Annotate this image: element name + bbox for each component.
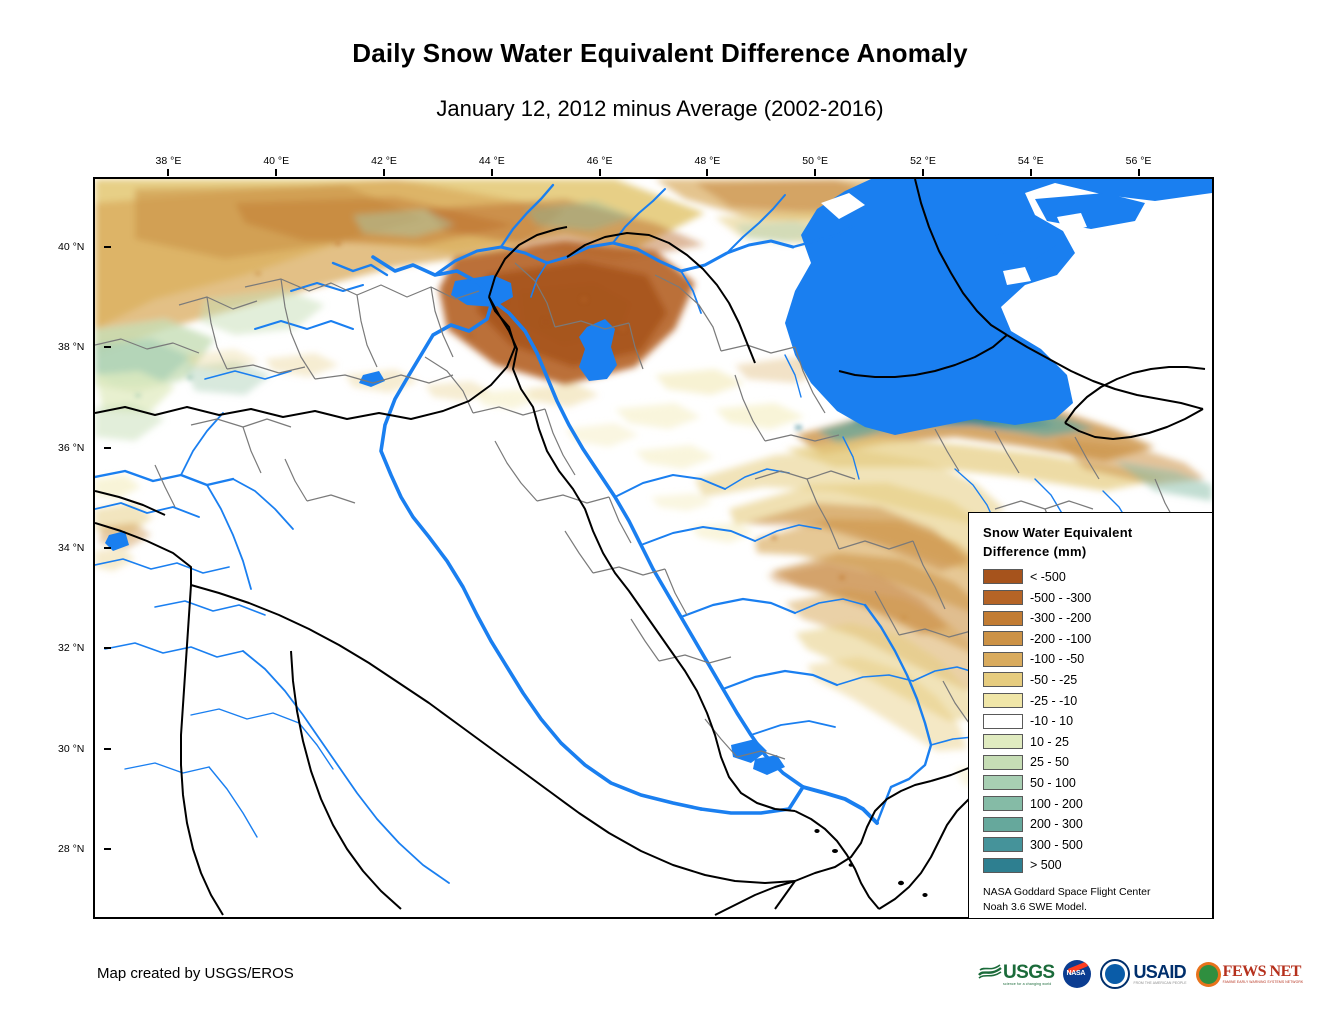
usaid-seal-icon (1100, 959, 1130, 989)
legend-swatch (983, 652, 1023, 667)
latitude-tick (104, 346, 111, 348)
legend-label: 50 - 100 (1030, 776, 1076, 790)
legend-entry: -25 - -10 (983, 690, 1212, 711)
longitude-tick (599, 169, 601, 176)
legend-entry: -500 - -300 (983, 587, 1212, 608)
longitude-tick (275, 169, 277, 176)
legend-title-line1: Snow Water Equivalent (983, 524, 1212, 543)
latitude-tick (104, 848, 111, 850)
longitude-label: 40 °E (263, 155, 289, 167)
fewsnet-wordmark: FEWS NET (1223, 964, 1304, 980)
fewsnet-logo: FEWS NET FAMINE EARLY WARNING SYSTEMS NE… (1196, 958, 1304, 990)
legend-entry: -300 - -200 (983, 608, 1212, 629)
longitude-label: 38 °E (156, 155, 182, 167)
longitude-label: 48 °E (694, 155, 720, 167)
legend-footer-line1: NASA Goddard Space Flight Center (983, 885, 1212, 900)
legend-entry: -100 - -50 (983, 649, 1212, 670)
longitude-label: 42 °E (371, 155, 397, 167)
map-credit: Map created by USGS/EROS (97, 965, 294, 982)
legend-swatch (983, 858, 1023, 873)
nasa-wordmark: NASA (1066, 970, 1085, 977)
nasa-meatball-icon: NASA (1063, 960, 1091, 988)
longitude-tick (167, 169, 169, 176)
legend-label: 200 - 300 (1030, 817, 1083, 831)
usaid-logo: USAID FROM THE AMERICAN PEOPLE (1100, 958, 1186, 990)
latitude-tick (104, 547, 111, 549)
legend-swatch (983, 775, 1023, 790)
fewsnet-globe-inner-icon (1199, 965, 1218, 984)
lake-van (451, 275, 513, 307)
legend-label: 100 - 200 (1030, 797, 1083, 811)
legend-swatch (983, 837, 1023, 852)
legend-entry: 50 - 100 (983, 773, 1212, 794)
legend-label: -300 - -200 (1030, 611, 1091, 625)
longitude-label: 50 °E (802, 155, 828, 167)
legend-label: 25 - 50 (1030, 755, 1069, 769)
longitude-tick (383, 169, 385, 176)
legend-swatch (983, 631, 1023, 646)
legend-entry: > 500 (983, 855, 1212, 876)
legend-swatch (983, 817, 1023, 832)
latitude-label: 40 °N (58, 241, 84, 253)
legend-swatch (983, 734, 1023, 749)
legend-swatch (983, 590, 1023, 605)
lake-urmia (579, 319, 617, 381)
legend-swatch (983, 796, 1023, 811)
latitude-label: 34 °N (58, 542, 84, 554)
legend-title-line2: Difference (mm) (983, 543, 1212, 562)
latitude-tick (104, 246, 111, 248)
latitude-label: 36 °N (58, 442, 84, 454)
nasa-logo: NASA (1063, 958, 1091, 990)
legend-entry: -10 - 10 (983, 711, 1212, 732)
longitude-label: 46 °E (587, 155, 613, 167)
legend-entry-list: < -500-500 - -300-300 - -200-200 - -100-… (983, 567, 1212, 876)
legend-entry: 200 - 300 (983, 814, 1212, 835)
legend-label: -50 - -25 (1030, 673, 1077, 687)
usaid-seal-inner-icon (1105, 964, 1125, 984)
legend-entry: < -500 (983, 567, 1212, 588)
legend-swatch (983, 755, 1023, 770)
legend-entry: 10 - 25 (983, 731, 1212, 752)
legend-label: 10 - 25 (1030, 735, 1069, 749)
latitude-label: 28 °N (58, 843, 84, 855)
longitude-tick (814, 169, 816, 176)
legend-label: -500 - -300 (1030, 591, 1091, 605)
latitude-label: 30 °N (58, 743, 84, 755)
page-title: Daily Snow Water Equivalent Difference A… (0, 38, 1320, 69)
legend-swatch (983, 714, 1023, 729)
legend-entry: 25 - 50 (983, 752, 1212, 773)
legend-entry: -200 - -100 (983, 628, 1212, 649)
longitude-tick (922, 169, 924, 176)
legend-label: -25 - -10 (1030, 694, 1077, 708)
longitude-label: 54 °E (1018, 155, 1044, 167)
legend-entry: -50 - -25 (983, 670, 1212, 691)
legend-label: -100 - -50 (1030, 652, 1084, 666)
usaid-wordmark: USAID (1133, 963, 1186, 981)
legend-entry: 300 - 500 (983, 834, 1212, 855)
legend-swatch (983, 693, 1023, 708)
legend-swatch (983, 672, 1023, 687)
usaid-tagline: FROM THE AMERICAN PEOPLE (1133, 981, 1186, 985)
legend-label: 300 - 500 (1030, 838, 1083, 852)
legend-label: -10 - 10 (1030, 714, 1073, 728)
legend-footer: NASA Goddard Space Flight Center Noah 3.… (983, 885, 1212, 915)
latitude-tick (104, 748, 111, 750)
legend-swatch (983, 569, 1023, 584)
agency-logo-strip: USGS science for a changing world NASA U… (978, 957, 1303, 991)
usgs-logo: USGS science for a changing world (978, 958, 1054, 990)
usgs-tagline: science for a changing world (1003, 982, 1054, 986)
legend-swatch (983, 611, 1023, 626)
legend-title: Snow Water Equivalent Difference (mm) (983, 524, 1212, 562)
legend-label: > 500 (1030, 858, 1062, 872)
longitude-tick (1138, 169, 1140, 176)
longitude-label: 52 °E (910, 155, 936, 167)
legend-label: -200 - -100 (1030, 632, 1091, 646)
legend-label: < -500 (1030, 570, 1066, 584)
longitude-label: 56 °E (1126, 155, 1152, 167)
latitude-tick (104, 447, 111, 449)
usgs-wave-icon (978, 964, 1002, 985)
usgs-wordmark: USGS (1003, 963, 1054, 982)
legend-footer-line2: Noah 3.6 SWE Model. (983, 900, 1212, 915)
map-legend: Snow Water Equivalent Difference (mm) < … (968, 512, 1213, 919)
latitude-label: 38 °N (58, 341, 84, 353)
longitude-tick (1030, 169, 1032, 176)
longitude-label: 44 °E (479, 155, 505, 167)
longitude-tick (706, 169, 708, 176)
page-subtitle: January 12, 2012 minus Average (2002-201… (0, 96, 1320, 122)
latitude-tick (104, 647, 111, 649)
fewsnet-tagline: FAMINE EARLY WARNING SYSTEMS NETWORK (1223, 980, 1304, 984)
longitude-tick (491, 169, 493, 176)
latitude-label: 32 °N (58, 642, 84, 654)
legend-entry: 100 - 200 (983, 793, 1212, 814)
fewsnet-globe-icon (1196, 962, 1221, 987)
